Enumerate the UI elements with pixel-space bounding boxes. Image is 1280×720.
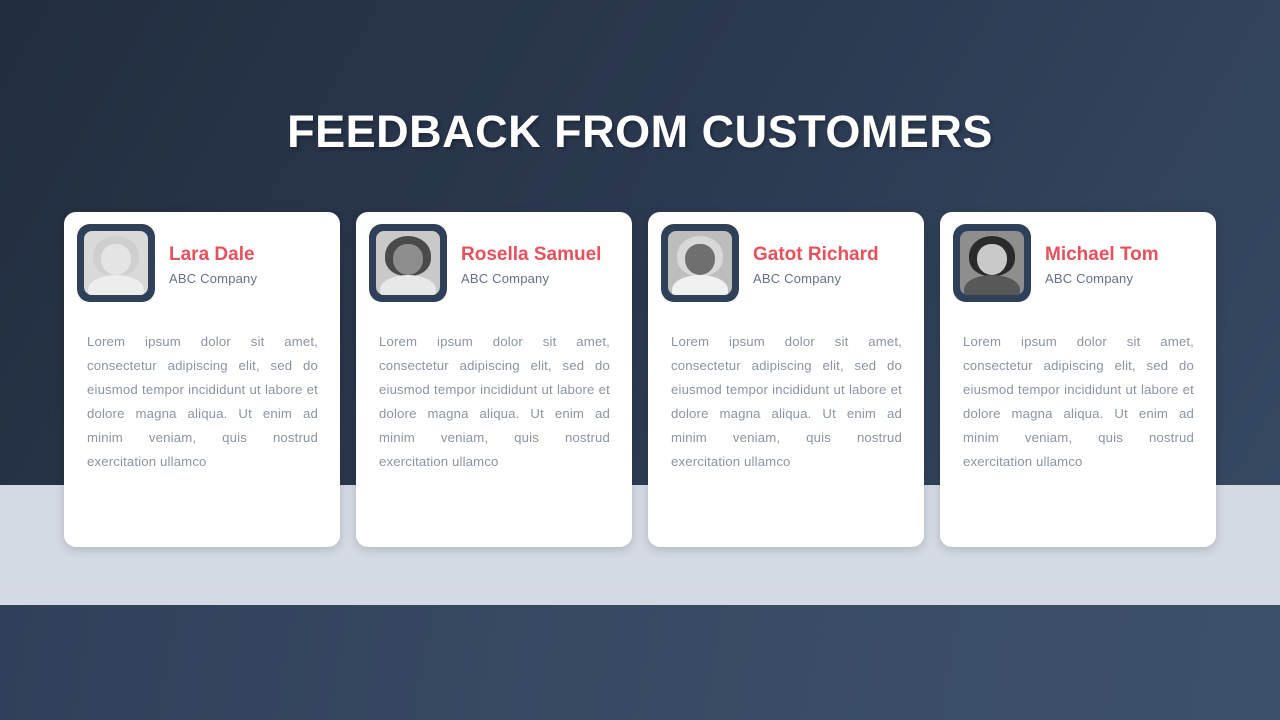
person-name: Gatot Richard	[753, 244, 879, 266]
testimonial-identity: Rosella Samuel ABC Company	[447, 224, 601, 286]
testimonial-header: Lara Dale ABC Company	[64, 212, 340, 302]
avatar-frame	[369, 224, 447, 302]
person-name: Michael Tom	[1045, 244, 1159, 266]
testimonial-identity: Gatot Richard ABC Company	[739, 224, 879, 286]
person-company: ABC Company	[461, 271, 601, 286]
avatar	[84, 231, 148, 295]
testimonial-card-list: Lara Dale ABC Company Lorem ipsum dolor …	[64, 212, 1216, 547]
testimonial-header: Michael Tom ABC Company	[940, 212, 1216, 302]
testimonial-quote: Lorem ipsum dolor sit amet, consectetur …	[940, 302, 1216, 474]
avatar	[668, 231, 732, 295]
person-name: Lara Dale	[169, 244, 257, 266]
testimonial-quote: Lorem ipsum dolor sit amet, consectetur …	[648, 302, 924, 474]
avatar-frame	[661, 224, 739, 302]
page-title: FEEDBACK FROM CUSTOMERS	[0, 106, 1280, 158]
testimonial-header: Rosella Samuel ABC Company	[356, 212, 632, 302]
testimonial-quote: Lorem ipsum dolor sit amet, consectetur …	[64, 302, 340, 474]
avatar-frame	[953, 224, 1031, 302]
person-company: ABC Company	[753, 271, 879, 286]
testimonial-quote: Lorem ipsum dolor sit amet, consectetur …	[356, 302, 632, 474]
testimonial-header: Gatot Richard ABC Company	[648, 212, 924, 302]
person-company: ABC Company	[169, 271, 257, 286]
testimonial-identity: Lara Dale ABC Company	[155, 224, 257, 286]
avatar-frame	[77, 224, 155, 302]
person-company: ABC Company	[1045, 271, 1159, 286]
background-band-bottom	[0, 605, 1280, 720]
avatar	[376, 231, 440, 295]
testimonial-card[interactable]: Gatot Richard ABC Company Lorem ipsum do…	[648, 212, 924, 547]
testimonial-card[interactable]: Michael Tom ABC Company Lorem ipsum dolo…	[940, 212, 1216, 547]
slide-canvas: FEEDBACK FROM CUSTOMERS Lara Dale ABC Co…	[0, 0, 1280, 720]
avatar	[960, 231, 1024, 295]
testimonial-card[interactable]: Rosella Samuel ABC Company Lorem ipsum d…	[356, 212, 632, 547]
testimonial-card[interactable]: Lara Dale ABC Company Lorem ipsum dolor …	[64, 212, 340, 547]
testimonial-identity: Michael Tom ABC Company	[1031, 224, 1159, 286]
person-name: Rosella Samuel	[461, 244, 601, 266]
